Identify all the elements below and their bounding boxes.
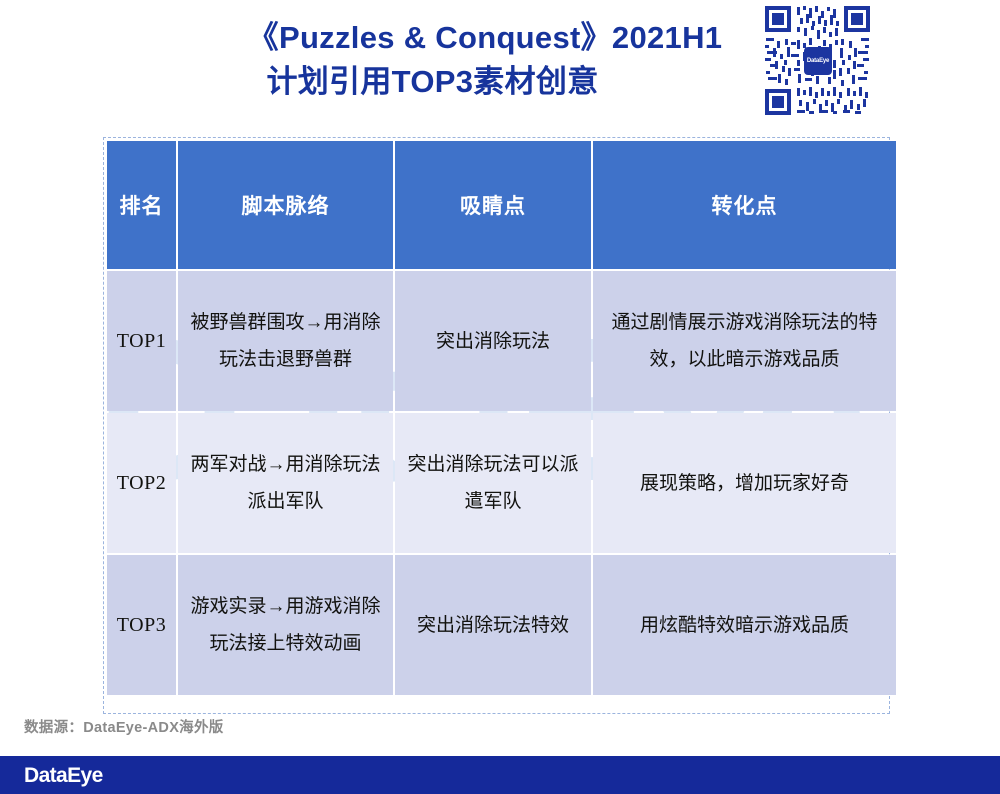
- table-row: TOP3 游戏实录→用游戏消除玩法接上特效动画 突出消除玩法特效 用炫酷特效暗示…: [107, 555, 896, 695]
- data-source-note: 数据源：DataEye-ADX海外版: [24, 716, 224, 737]
- creative-ranking-table: 排名 脚本脉络 吸睛点 转化点 TOP1 被野兽群围攻→用消除玩法击退野兽群 突…: [105, 139, 898, 697]
- cell-story: 两军对战→用消除玩法派出军队: [178, 413, 393, 553]
- cell-conversion: 用炫酷特效暗示游戏品质: [593, 555, 896, 695]
- cell-rank: TOP1: [107, 271, 176, 411]
- table-row: TOP2 两军对战→用消除玩法派出军队 突出消除玩法可以派遣军队 展现策略，增加…: [107, 413, 896, 553]
- cell-conversion: 通过剧情展示游戏消除玩法的特效，以此暗示游戏品质: [593, 271, 896, 411]
- cell-hook: 突出消除玩法特效: [395, 555, 591, 695]
- cell-story: 被野兽群围攻→用消除玩法击退野兽群: [178, 271, 393, 411]
- column-header-story: 脚本脉络: [178, 141, 393, 269]
- qr-center-brand-badge: DataEye: [804, 47, 832, 75]
- cell-story: 游戏实录→用游戏消除玩法接上特效动画: [178, 555, 393, 695]
- cell-conversion: 展现策略，增加玩家好奇: [593, 413, 896, 553]
- table-header-row: 排名 脚本脉络 吸睛点 转化点: [107, 141, 896, 269]
- table-row: TOP1 被野兽群围攻→用消除玩法击退野兽群 突出消除玩法 通过剧情展示游戏消除…: [107, 271, 896, 411]
- cell-hook: 突出消除玩法可以派遣军队: [395, 413, 591, 553]
- brand-logo: DataEye: [24, 764, 103, 788]
- qr-code-icon[interactable]: DataEye: [761, 2, 874, 119]
- cell-hook: 突出消除玩法: [395, 271, 591, 411]
- column-header-hook: 吸睛点: [395, 141, 591, 269]
- cell-rank: TOP2: [107, 413, 176, 553]
- column-header-rank: 排名: [107, 141, 176, 269]
- column-header-conversion: 转化点: [593, 141, 896, 269]
- cell-rank: TOP3: [107, 555, 176, 695]
- footer-bar: DataEye: [0, 756, 1000, 794]
